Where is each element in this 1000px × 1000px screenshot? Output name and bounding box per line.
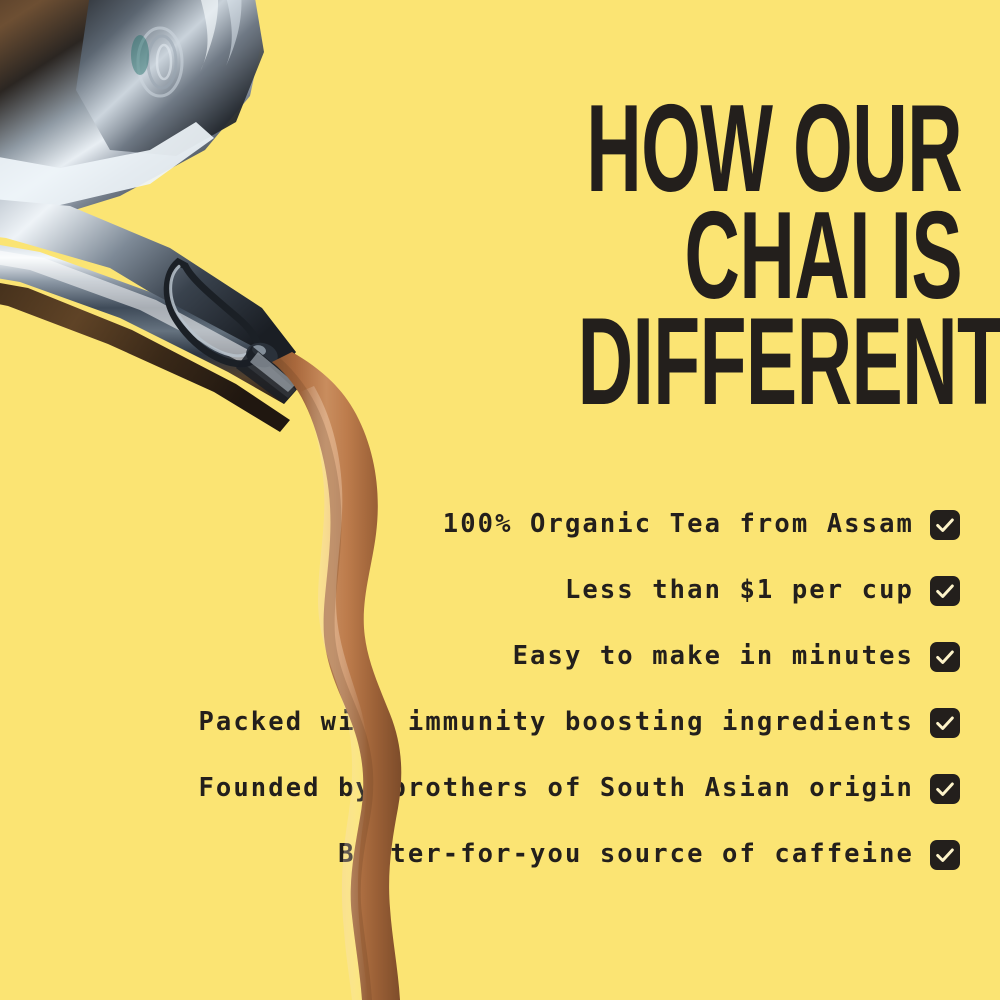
list-item: Easy to make in minutes [60, 635, 960, 679]
checkbox-checked-icon [930, 642, 960, 672]
checkbox-checked-icon [930, 576, 960, 606]
kettle-highlights [196, 0, 241, 72]
checklist-label: Packed with immunity boosting ingredient… [198, 710, 914, 736]
list-item: Founded by brothers of South Asian origi… [60, 767, 960, 811]
checklist-label: 100% Organic Tea from Assam [443, 512, 914, 538]
list-item: Packed with immunity boosting ingredient… [60, 701, 960, 745]
poster-canvas: HOW OUR CHAI IS DIFFERENT 100% Organic T… [0, 0, 1000, 1000]
kettle-lid-lever [152, 261, 294, 374]
kettle-teal-reflection [131, 35, 149, 75]
list-item: Less than $1 per cup [60, 569, 960, 613]
spout-specular-line [0, 244, 296, 398]
headline: HOW OUR CHAI IS DIFFERENT [342, 96, 962, 416]
checkbox-checked-icon [930, 840, 960, 870]
kettle-body-shape [0, 0, 262, 240]
spout-brown-reflection [0, 276, 290, 432]
kettle-neck-shape [0, 196, 296, 378]
kettle-knob-rings [138, 28, 182, 96]
checklist-label: Better-for-you source of caffeine [338, 842, 914, 868]
checkbox-checked-icon [930, 774, 960, 804]
spout-tip-shine [250, 352, 296, 392]
spout-tip-rim [236, 346, 300, 404]
checkbox-checked-icon [930, 510, 960, 540]
kettle-shoulder-highlight [0, 122, 214, 206]
checklist-label: Founded by brothers of South Asian origi… [198, 776, 914, 802]
checklist-label: Less than $1 per cup [565, 578, 914, 604]
checkbox-checked-icon [930, 708, 960, 738]
kettle-lid-shape [76, 0, 264, 156]
list-item: 100% Organic Tea from Assam [60, 503, 960, 547]
checklist-label: Easy to make in minutes [513, 644, 914, 670]
kettle-spout-shape [0, 238, 300, 404]
benefits-checklist: 100% Organic Tea from Assam Less than $1… [60, 503, 960, 877]
list-item: Better-for-you source of caffeine [60, 833, 960, 877]
headline-line-3: DIFFERENT [578, 309, 962, 416]
